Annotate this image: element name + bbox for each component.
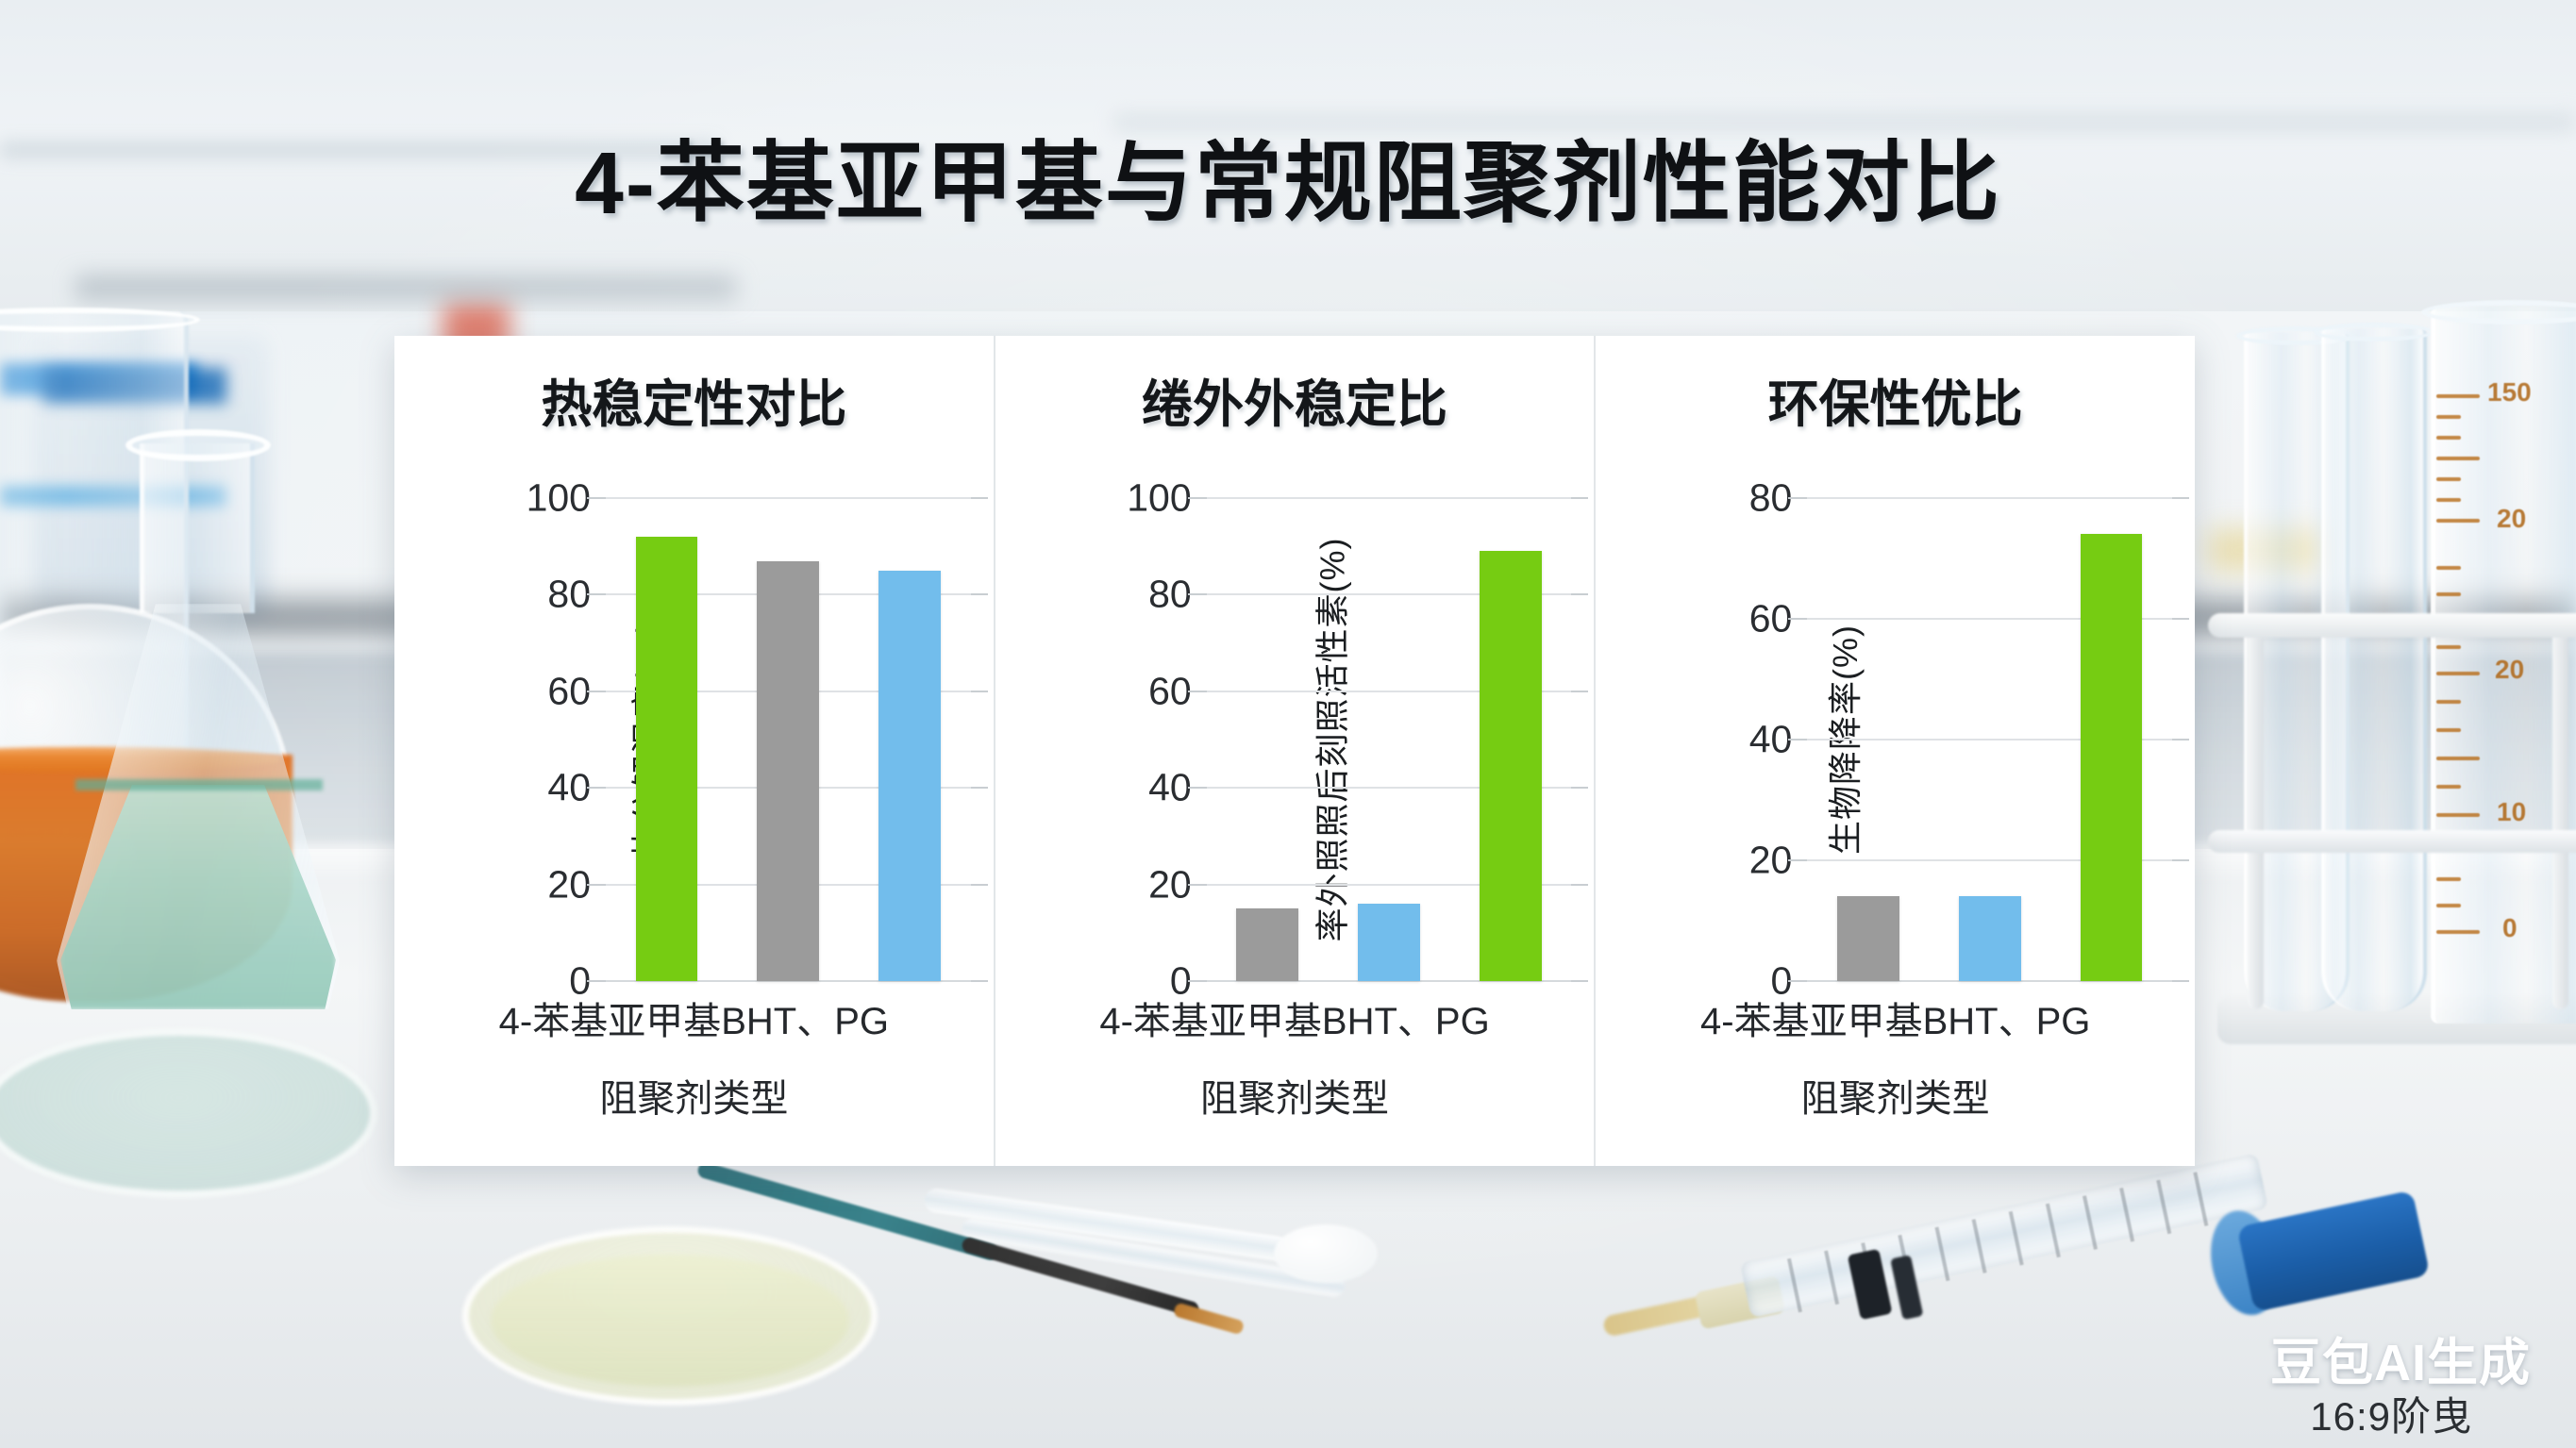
cylinder-mark-0: 0 — [2502, 913, 2517, 943]
x-axis-categories-1: 4-苯基亚甲基BHT、PG — [394, 990, 994, 1045]
blurred-yellow-object — [2208, 528, 2321, 572]
orange-liquid-surface — [0, 747, 281, 772]
cylinder-mark — [2436, 457, 2480, 460]
y-tick-mark-right — [1571, 593, 1588, 595]
syringe-hub — [1695, 1275, 1785, 1330]
cylinder-minor-mark — [2436, 436, 2461, 440]
rack-support-bar-upper — [2208, 613, 2576, 638]
y-tick-label: 40 — [547, 766, 591, 810]
pipette-rubber-bulb — [1274, 1224, 1378, 1283]
cylinder-mark-10: 10 — [2497, 797, 2526, 827]
y-tick-mark — [1188, 884, 1207, 886]
cylinder-minor-mark — [2436, 498, 2461, 502]
y-tick-label: 20 — [547, 862, 591, 907]
y-tick-mark — [1188, 497, 1207, 499]
cylinder-mark — [2436, 394, 2480, 398]
y-tick-label: 80 — [547, 573, 591, 617]
cylinder-minor-mark — [2436, 700, 2461, 704]
bars-2 — [1207, 498, 1572, 981]
bar-1 — [1837, 896, 1899, 981]
test-tube-1-rim — [2236, 326, 2357, 345]
bar-1 — [1236, 908, 1298, 981]
y-tick-mark — [1788, 859, 1807, 861]
cylinder-minor-mark — [2436, 904, 2461, 907]
cylinder-mark — [2436, 519, 2480, 523]
bar-2 — [757, 561, 819, 981]
syringe-graduations — [1787, 1167, 2233, 1312]
bars-3 — [1807, 498, 2172, 981]
syringe-plunger — [2236, 1190, 2430, 1312]
blurred-reagent-bottle — [33, 335, 269, 618]
petri-dish-center — [462, 1226, 878, 1406]
y-tick-label: 80 — [1749, 476, 1793, 521]
y-axis-ticks-2: 100806040200 — [1116, 498, 1203, 981]
y-tick-mark — [587, 497, 606, 499]
y-tick-label: 60 — [547, 669, 591, 713]
chart-title-1: 热稳定性对比 — [394, 362, 994, 437]
green-liquid-surface — [75, 779, 323, 791]
y-tick-mark-right — [971, 884, 988, 886]
y-tick-mark-right — [1571, 497, 1588, 499]
y-tick-mark — [1188, 787, 1207, 789]
cylinder-mark — [2436, 619, 2480, 623]
erlenmeyer-flask-neck — [140, 443, 255, 613]
y-tick-label: 100 — [1127, 476, 1191, 521]
y-tick-mark — [587, 691, 606, 692]
petri-dish-center-contents — [491, 1255, 849, 1387]
chart-title-2: 绻外外稳定比 — [995, 362, 1595, 437]
y-tick-label: 40 — [1148, 766, 1192, 810]
y-tick-mark — [1788, 497, 1807, 499]
graduated-cylinder — [2431, 307, 2576, 1024]
cylinder-mark-20b: 20 — [2495, 655, 2524, 685]
y-tick-mark — [1788, 739, 1807, 741]
cylinder-minor-mark — [2436, 785, 2461, 789]
y-tick-mark-right — [971, 497, 988, 499]
cylinder-minor-mark — [2436, 415, 2461, 419]
slide-title: 4-苯基亚甲基与常规阻聚剂性能对比 — [0, 111, 2576, 239]
y-tick-mark — [587, 593, 606, 595]
y-tick-mark-right — [1571, 691, 1588, 692]
y-tick-mark-right — [2172, 739, 2189, 741]
x-axis-categories-2: 4-苯基亚甲基BHT、PG — [995, 990, 1595, 1045]
y-tick-mark — [1188, 691, 1207, 692]
syringe-needle — [1602, 1291, 1727, 1338]
glass-pipette-1 — [923, 1187, 1291, 1262]
reagent-bottle-label-2 — [42, 368, 226, 404]
rack-leg-right — [2552, 623, 2568, 1009]
erlenmeyer-flask-rim — [125, 429, 271, 461]
stirring-rod-teal — [696, 1160, 1000, 1261]
y-tick-mark — [587, 884, 606, 886]
y-tick-mark-right — [2172, 859, 2189, 861]
chart-panel-eco-friendliness: 环保性优比 生物降降率(%) 806040200 4-苯基亚甲基BHT、PG 阻… — [1594, 336, 2195, 1166]
chart-title-3: 环保性优比 — [1596, 362, 2195, 437]
cylinder-minor-mark — [2436, 592, 2461, 596]
test-tube-2 — [2321, 328, 2427, 1011]
y-tick-mark-right — [971, 593, 988, 595]
syringe-seal-2 — [1890, 1255, 1923, 1320]
y-tick-mark-right — [971, 980, 988, 982]
chart-panel-uv-stability: 绻外外稳定比 率外照照后刻照活性素(%) 100806040200 4-苯基亚甲… — [994, 336, 1595, 1166]
background-shadow-band — [75, 275, 736, 300]
y-tick-mark-right — [1571, 787, 1588, 789]
syringe-seal — [1848, 1249, 1893, 1321]
cylinder-mark — [2436, 672, 2480, 675]
bar-3 — [878, 571, 941, 981]
petri-dish-left — [0, 1028, 377, 1198]
graduated-cylinder-rim — [2421, 300, 2576, 325]
erlenmeyer-flask-body — [57, 604, 340, 1009]
bar-2 — [1358, 904, 1420, 981]
chart-panel-thermal-stability: 热稳定性对比 热分解温度(°C) 100806040200 4-苯基亚甲基BHT… — [394, 336, 994, 1166]
cylinder-minor-mark — [2436, 477, 2461, 481]
cylinder-mark-150: 150 — [2487, 377, 2532, 408]
stirring-rod-tip — [1173, 1302, 1245, 1335]
cylinder-minor-mark — [2436, 645, 2461, 649]
plot-area-2: 率外照照后刻照活性素(%) 100806040200 — [1116, 498, 1572, 981]
cylinder-mark — [2436, 930, 2480, 934]
test-tube-rack-base — [2217, 995, 2576, 1044]
reagent-bottle-label-3 — [0, 486, 226, 507]
stirring-rod-black — [961, 1236, 1200, 1318]
y-tick-label: 40 — [1749, 718, 1793, 762]
plot-area-1: 热分解温度(°C) 100806040200 — [515, 498, 971, 981]
cylinder-mark — [2436, 757, 2480, 760]
test-tube-1 — [2244, 332, 2350, 1011]
x-axis-label-2: 阻聚剂类型 — [995, 1068, 1595, 1123]
y-tick-mark-right — [971, 787, 988, 789]
y-tick-mark-right — [2172, 980, 2189, 982]
x-axis-categories-3: 4-苯基亚甲基BHT、PG — [1596, 990, 2195, 1045]
plot-area-3: 生物降降率(%) 806040200 — [1716, 498, 2172, 981]
x-axis-label-1: 阻聚剂类型 — [394, 1068, 994, 1123]
watermark-ratio: 16:9阶曳 — [2310, 1385, 2472, 1442]
rack-leg-left — [2248, 623, 2264, 1009]
cylinder-minor-mark — [2436, 566, 2461, 570]
y-tick-mark — [1788, 980, 1807, 982]
glass-pipette-2 — [961, 1217, 1346, 1298]
y-tick-mark-right — [2172, 618, 2189, 620]
y-tick-label: 20 — [1749, 839, 1793, 883]
slide-canvas: 150 20 20 10 0 4-苯基亚甲基与常规阻聚剂性能对比 热稳定性对比 … — [0, 0, 2576, 1448]
cylinder-minor-mark — [2436, 877, 2461, 881]
bar-3 — [2081, 534, 2143, 981]
y-axis-ticks-1: 100806040200 — [515, 498, 602, 981]
syringe-barrel — [1740, 1153, 2268, 1318]
y-tick-label: 80 — [1148, 573, 1192, 617]
y-tick-label: 60 — [1749, 597, 1793, 641]
bars-1 — [606, 498, 971, 981]
y-tick-mark-right — [1571, 980, 1588, 982]
charts-card: 热稳定性对比 热分解温度(°C) 100806040200 4-苯基亚甲基BHT… — [394, 336, 2195, 1166]
reagent-bottle-label — [0, 363, 198, 395]
cylinder-mark-20a: 20 — [2497, 504, 2526, 534]
green-liquid — [60, 785, 336, 1009]
y-tick-mark — [1788, 618, 1807, 620]
y-tick-mark — [587, 787, 606, 789]
cylinder-mark — [2436, 813, 2480, 817]
y-tick-label: 60 — [1148, 669, 1192, 713]
orange-liquid — [0, 755, 293, 1002]
y-tick-label: 100 — [527, 476, 591, 521]
bar-1 — [636, 537, 698, 981]
y-tick-label: 20 — [1148, 862, 1192, 907]
test-tube-2-rim — [2314, 323, 2434, 341]
y-tick-mark-right — [2172, 497, 2189, 499]
y-tick-mark — [1188, 593, 1207, 595]
x-axis-label-3: 阻聚剂类型 — [1596, 1068, 2195, 1123]
cylinder-minor-mark — [2436, 728, 2461, 732]
y-tick-mark — [587, 980, 606, 982]
bar-2 — [1959, 896, 2021, 981]
rack-support-bar-lower — [2208, 830, 2576, 853]
round-bottom-flask — [0, 604, 293, 1000]
glass-cylinder-left-rim — [0, 308, 200, 332]
bar-3 — [1480, 551, 1542, 981]
y-tick-mark-right — [1571, 884, 1588, 886]
syringe-plunger-cap — [2201, 1205, 2288, 1322]
y-tick-mark-right — [971, 691, 988, 692]
y-tick-mark — [1188, 980, 1207, 982]
glass-cylinder-left — [0, 311, 189, 840]
